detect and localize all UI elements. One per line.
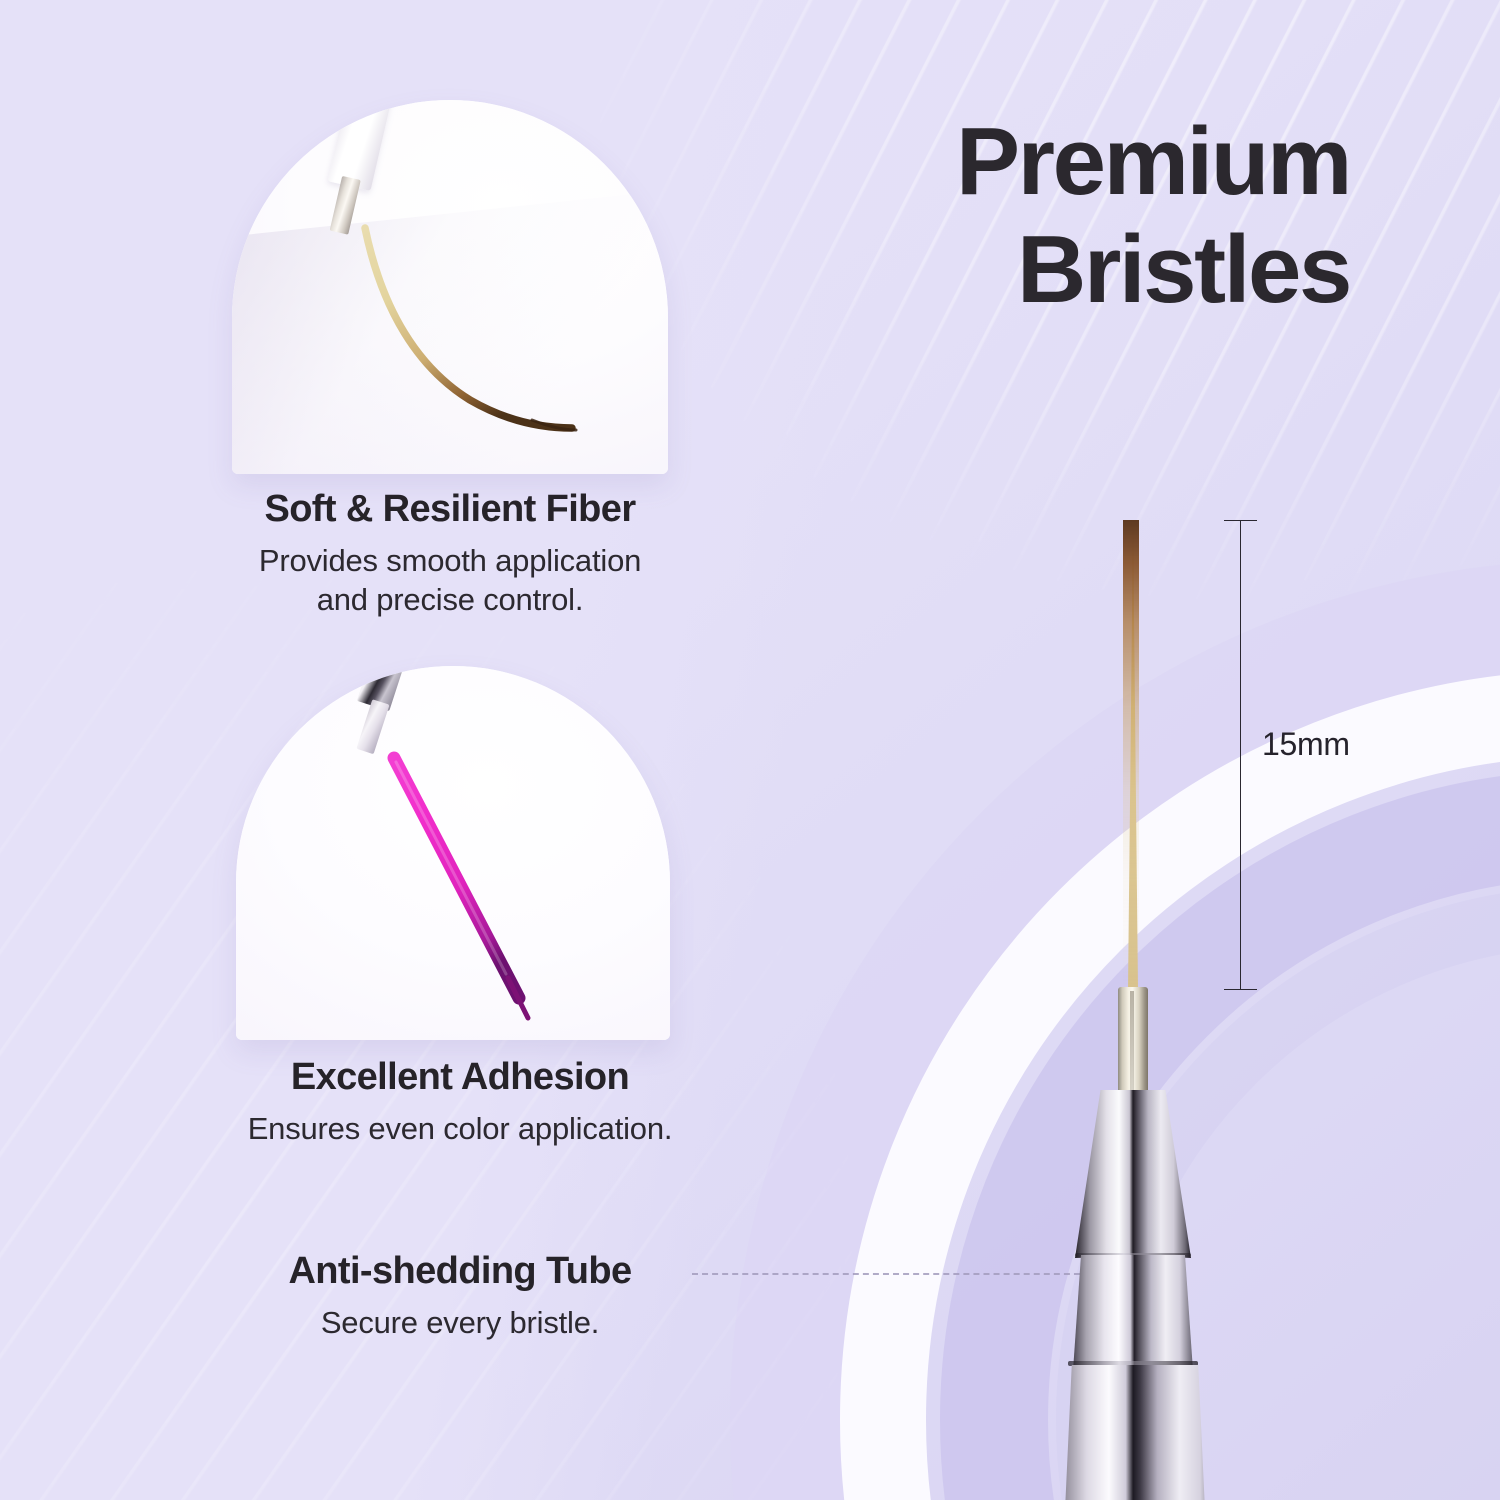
feature-description-line-1: Provides smooth application (150, 541, 750, 580)
brush-ferrule-mid-section (1068, 1255, 1198, 1368)
page-title: Premium Bristles (710, 108, 1350, 323)
feature-description-line-1: Ensures even color application. (160, 1109, 760, 1148)
feature-image-card-excellent-adhesion (236, 666, 670, 1040)
feature-description: Provides smooth application and precise … (150, 541, 750, 619)
page-title-line-2: Bristles (710, 216, 1350, 324)
feature-text-soft-resilient-fiber: Soft & Resilient Fiber Provides smooth a… (150, 488, 750, 619)
brush-bristle (1020, 505, 1280, 1005)
brush-collar-seam (1130, 991, 1134, 1091)
feature-text-anti-shedding-tube: Anti-shedding Tube Secure every bristle. (160, 1250, 760, 1342)
page-title-line-1: Premium (710, 108, 1350, 216)
feature-title: Excellent Adhesion (160, 1056, 760, 1099)
product-feature-graphic: Premium Bristles Soft & Resilien (0, 0, 1500, 1500)
golden-bristle-curve (232, 100, 668, 474)
feature-title: Soft & Resilient Fiber (150, 488, 750, 531)
feature-title: Anti-shedding Tube (160, 1250, 760, 1293)
feature-image-card-soft-resilient-fiber (232, 100, 668, 474)
brush-ferrule-upper-cone (1075, 1090, 1191, 1258)
magenta-loaded-bristle (236, 666, 670, 1040)
feature-description: Secure every bristle. (160, 1303, 760, 1342)
bristle-taper-shape (1128, 520, 1138, 990)
feature-description-line-1: Secure every bristle. (160, 1303, 760, 1342)
feature-description-line-2: and precise control. (150, 580, 750, 619)
brush-handle-body (1042, 1365, 1228, 1500)
product-brush (1020, 505, 1280, 1500)
feature-description: Ensures even color application. (160, 1109, 760, 1148)
feature-text-excellent-adhesion: Excellent Adhesion Ensures even color ap… (160, 1056, 760, 1148)
